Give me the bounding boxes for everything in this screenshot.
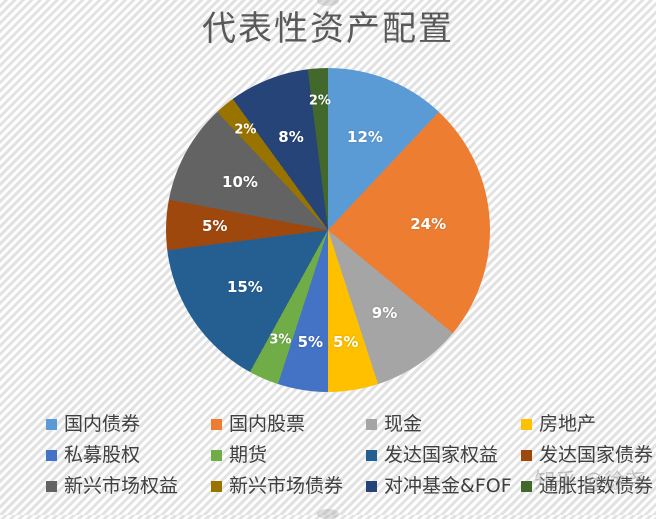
legend-item[interactable]: 私募股权 [46, 439, 211, 470]
legend-item[interactable]: 发达国家权益 [366, 439, 521, 470]
legend-item[interactable]: 新兴市场债券 [211, 470, 366, 501]
legend-swatch-icon [521, 481, 532, 492]
pie-slice-label: 10% [222, 173, 258, 191]
pie-slice-label: 2% [309, 93, 331, 108]
chart-title: 代表性资产配置 [0, 6, 656, 52]
legend-item[interactable]: 房地产 [521, 408, 616, 439]
pie-slice-label: 5% [202, 217, 227, 235]
legend-swatch-icon [366, 450, 377, 461]
legend-item-label: 期货 [229, 444, 267, 466]
pie-slice-label: 3% [269, 333, 291, 348]
legend-swatch-icon [521, 450, 532, 461]
pie-slice-label: 12% [347, 128, 383, 146]
legend-item-label: 国内债券 [64, 413, 140, 435]
legend-item-label: 私募股权 [64, 444, 140, 466]
legend-swatch-icon [46, 481, 57, 492]
legend-swatch-icon [521, 419, 532, 430]
pie-slice-label: 5% [298, 333, 323, 351]
legend-swatch-icon [46, 419, 57, 430]
legend-item-label: 发达国家债券 [539, 444, 653, 466]
legend-swatch-icon [211, 450, 222, 461]
legend-swatch-icon [211, 481, 222, 492]
legend-item-label: 发达国家权益 [384, 444, 498, 466]
legend-item[interactable]: 国内债券 [46, 408, 211, 439]
legend-item-label: 新兴市场权益 [64, 475, 178, 497]
pie-slice-label: 9% [372, 304, 397, 322]
pie-slice-label: 24% [410, 215, 446, 233]
legend-item[interactable]: 新兴市场权益 [46, 470, 211, 501]
legend-item-label: 现金 [384, 413, 422, 435]
legend-item-label: 国内股票 [229, 413, 305, 435]
legend-item[interactable]: 国内股票 [211, 408, 366, 439]
legend-item-label: 通胀指数债券 [539, 475, 653, 497]
legend-item[interactable]: 现金 [366, 408, 521, 439]
pie-slice-label: 15% [227, 278, 263, 296]
legend-item[interactable]: 期货 [211, 439, 366, 470]
pie-chart: 12%24%9%5%5%3%15%5%10%2%8%2% [166, 68, 490, 392]
legend-row: 国内债券国内股票现金房地产 [46, 408, 616, 439]
legend-item-label: 房地产 [539, 413, 596, 435]
legend-item-label: 对冲基金&FOF [384, 475, 512, 497]
legend-row: 新兴市场权益新兴市场债券对冲基金&FOF通胀指数债券 [46, 470, 616, 501]
legend-swatch-icon [46, 450, 57, 461]
legend-row: 私募股权期货发达国家权益发达国家债券 [46, 439, 616, 470]
chart-legend: 国内债券国内股票现金房地产私募股权期货发达国家权益发达国家债券新兴市场权益新兴市… [46, 408, 616, 508]
legend-item[interactable]: 对冲基金&FOF [366, 470, 521, 501]
bottom-edge-artifact [317, 509, 339, 519]
legend-item[interactable]: 通胀指数债券 [521, 470, 616, 501]
legend-item-label: 新兴市场债券 [229, 475, 343, 497]
legend-swatch-icon [211, 419, 222, 430]
pie-chart-plot-area: 12%24%9%5%5%3%15%5%10%2%8%2% [0, 64, 656, 399]
legend-swatch-icon [366, 419, 377, 430]
legend-item[interactable]: 发达国家债券 [521, 439, 616, 470]
pie-slice-label: 5% [333, 333, 358, 351]
legend-swatch-icon [366, 481, 377, 492]
pie-slice-label: 8% [278, 128, 303, 146]
pie-slice-label: 2% [234, 123, 256, 138]
